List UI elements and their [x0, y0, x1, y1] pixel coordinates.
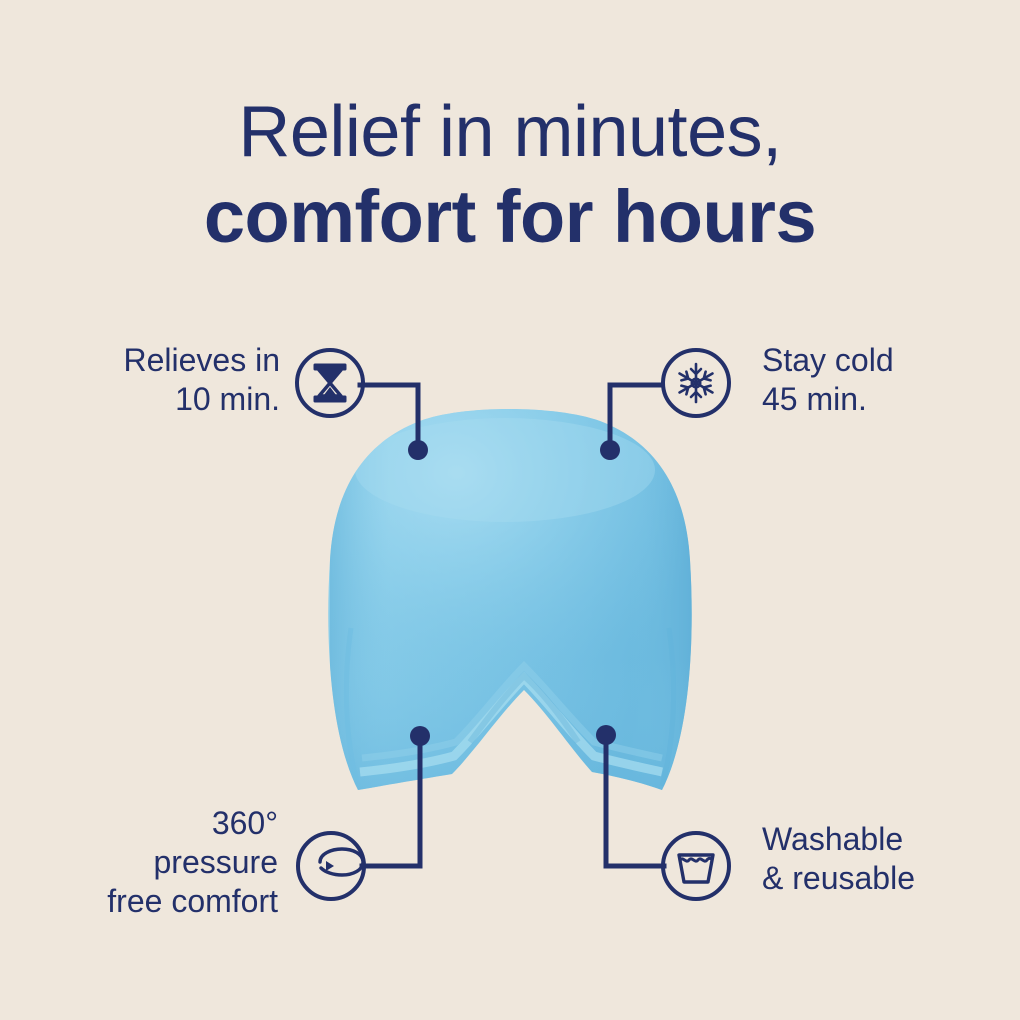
feature-label-stay-cold: Stay cold 45 min.: [762, 341, 1012, 419]
dot-pressure-free: [410, 726, 430, 746]
product-image: [268, 365, 695, 800]
product-infographic: Relief in minutes, comfort for hours: [0, 0, 1020, 1020]
feature-label-relieves: Relieves in 10 min.: [40, 341, 280, 419]
feature-icon-stay-cold[interactable]: [663, 350, 729, 416]
feature-icon-relieves[interactable]: [297, 350, 363, 416]
dot-relieves: [408, 440, 428, 460]
feature-label-pressure-free: 360° pressure free comfort: [30, 804, 278, 921]
dot-washable: [596, 725, 616, 745]
wash-tub-icon: [679, 855, 713, 882]
icon-circle-washable: [663, 833, 729, 899]
feature-icon-pressure-free[interactable]: [298, 833, 364, 899]
rotate-360-icon: [320, 849, 363, 875]
feature-icon-washable[interactable]: [663, 833, 729, 899]
dot-stay-cold: [600, 440, 620, 460]
snowflake-icon: [677, 364, 715, 402]
feature-label-washable: Washable & reusable: [762, 820, 1014, 898]
hourglass-icon: [314, 364, 346, 402]
